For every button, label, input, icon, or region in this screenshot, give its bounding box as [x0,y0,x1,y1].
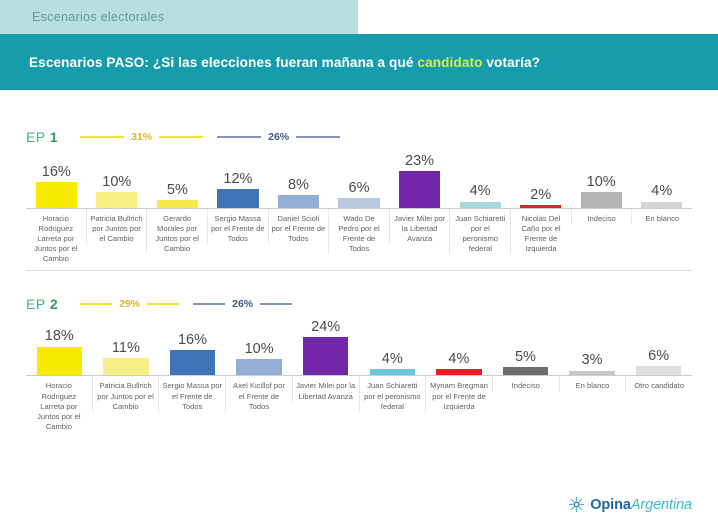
bar-category-label: Javier Milei por la Libertad Avanza [389,209,450,244]
bar-value-label: 10% [245,342,274,357]
bar-rect[interactable] [278,195,319,208]
bar-category-label: En blanco [559,376,626,391]
bar-category-label: Nicolas Del Caño por el Frente de Izquie… [510,209,571,254]
chart-ep1: EP 1 31% 26% 16%10%5%12%8%6%23%4%2%10%4%… [0,128,718,264]
page-title: Escenarios PASO: ¿Si las elecciones fuer… [29,55,540,70]
bar-category-label: Sergio Massa por el Frente de Todos [207,209,268,244]
bar-rect[interactable] [170,350,215,376]
label-row-ep1: Horacio Rodriguez Larreta por Juntos por… [26,209,692,264]
bar-rect[interactable] [96,192,137,208]
ep1-prefix: EP [26,129,50,145]
bar-rect[interactable] [399,171,440,208]
bar-rect[interactable] [460,202,501,208]
bar-category-label: Horacio Rodriguez Larreta por Juntos por… [26,376,92,431]
bar-value-label: 6% [349,181,370,196]
legend-value-jxc: 29% [119,298,140,310]
bar-row-ep2: 18%11%16%10%24%4%4%5%3%6% [26,313,692,376]
bar-rect[interactable] [103,358,148,376]
bar-item[interactable]: 10% [87,146,148,208]
bar-value-label: 3% [582,353,603,368]
bar-value-label: 11% [112,341,140,356]
bar-row-ep1: 16%10%5%12%8%6%23%4%2%10%4% [26,146,692,209]
bar-value-label: 6% [648,349,669,364]
legend-item-juntos-por-el-cambio: 31% [80,131,203,143]
title-highlight: candidato [417,55,482,70]
section-divider [26,270,692,271]
legend-line-left-icon [80,136,124,138]
bar-value-label: 4% [470,184,491,199]
bar-item[interactable]: 10% [571,146,632,208]
bar-item[interactable]: 16% [159,313,226,375]
bar-item[interactable]: 2% [510,146,571,208]
bar-category-label: Patricia Bullrich por Juntos por el Camb… [92,376,159,411]
ep2-label: EP 2 [26,296,58,312]
bar-item[interactable]: 6% [625,313,692,375]
bar-rect[interactable] [569,371,614,376]
bar-category-label: Juan Schiaretti por el peronismo federal [449,209,510,254]
ep1-label: EP 1 [26,129,58,145]
bar-category-label: Javier Milei por la Libertad Avanza [292,376,359,401]
ep1-number: 1 [50,129,58,145]
legend-ep1: EP 1 31% 26% [0,128,718,146]
bar-item[interactable]: 4% [450,146,511,208]
bar-item[interactable]: 4% [631,146,692,208]
legend-line-right-icon [260,303,292,305]
bar-category-label: Patricia Bullrich por Juntos por el Camb… [86,209,147,244]
title-middle: ¿Si las elecciones fueran mañana a qué [149,55,417,70]
bar-value-label: 10% [587,175,616,190]
ep2-number: 2 [50,296,58,312]
bar-value-label: 8% [288,178,309,193]
tab-label: Escenarios electorales [32,10,164,24]
legend-ep2: EP 2 29% 26% [0,295,718,313]
bar-value-label: 16% [42,165,71,180]
legend-value-fdt: 26% [268,131,289,143]
bar-value-label: 12% [223,172,252,187]
bar-category-label: Daniel Scioli por el Frente de Todos [268,209,329,244]
bar-value-label: 24% [311,320,340,335]
bar-rect[interactable] [157,200,198,208]
bar-rect[interactable] [236,359,281,375]
bar-item[interactable]: 16% [26,146,87,208]
legend-line-right-icon [159,136,203,138]
bar-category-label: Indeciso [571,209,632,224]
bar-value-label: 4% [382,352,403,367]
bar-value-label: 5% [167,183,188,198]
bar-item[interactable]: 4% [426,313,493,375]
bar-value-label: 18% [45,329,74,344]
bar-rect[interactable] [36,182,77,208]
plot-area-ep2: 18%11%16%10%24%4%4%5%3%6% Horacio Rodrig… [26,313,692,431]
bar-item[interactable]: 6% [329,146,390,208]
bar-category-label: Juan Schiaretti por el peronismo federal [359,376,426,411]
bar-item[interactable]: 3% [559,313,626,375]
bar-rect[interactable] [581,192,622,208]
bar-rect[interactable] [520,205,561,208]
bar-rect[interactable] [370,369,415,375]
legend-line-right-icon [296,136,340,138]
title-suffix: votaría? [483,55,541,70]
bar-category-label: Indeciso [492,376,559,391]
bar-rect[interactable] [503,367,548,375]
bar-item[interactable]: 10% [226,313,293,375]
bar-item[interactable]: 24% [292,313,359,375]
title-bar: Escenarios PASO: ¿Si las elecciones fuer… [0,34,718,90]
ep2-prefix: EP [26,296,50,312]
legend-item-frente-de-todos: 26% [217,131,340,143]
bar-value-label: 23% [405,154,434,169]
bar-value-label: 10% [102,175,131,190]
legend-value-jxc: 31% [131,131,152,143]
bar-value-label: 4% [448,352,469,367]
bar-category-label: Wado De Pedro por el Frente de Todos [328,209,389,254]
bar-item[interactable]: 8% [268,146,329,208]
logo-opina: Opina [590,497,631,513]
tab-escenarios-electorales[interactable]: Escenarios electorales [0,0,358,34]
bar-item[interactable]: 4% [359,313,426,375]
bar-value-label: 5% [515,350,536,365]
legend-line-left-icon [80,303,112,305]
bar-value-label: 2% [530,188,551,203]
legend-item-frente-de-todos: 26% [193,298,292,310]
bar-item[interactable]: 23% [389,146,450,208]
bar-item[interactable]: 18% [26,313,93,375]
brand-logo: OpinaArgentina [568,496,692,513]
bar-category-label: En blanco [631,209,692,224]
title-prefix: Escenarios PASO: [29,55,149,70]
bar-rect[interactable] [217,189,258,208]
legend-line-left-icon [217,136,261,138]
bar-category-label: Myriam Bregman por el Frente de Izquierd… [425,376,492,411]
chart-ep2: EP 2 29% 26% 18%11%16%10%24%4%4%5%3%6% H… [0,295,718,431]
bar-value-label: 4% [651,184,672,199]
bar-value-label: 16% [178,333,207,348]
bar-category-label: Horacio Rodriguez Larreta por Juntos por… [26,209,86,264]
bar-category-label: Axel Kicillof por el Frente de Todos [225,376,292,411]
bar-item[interactable]: 5% [147,146,208,208]
bar-category-label: Sergio Massa por el Frente de Todos [158,376,225,411]
tab-strip: Escenarios electorales [0,0,718,34]
opina-sun-icon [568,496,585,513]
bar-rect[interactable] [436,369,481,375]
bar-item[interactable]: 11% [93,313,160,375]
bar-rect[interactable] [641,202,682,208]
bar-item[interactable]: 12% [208,146,269,208]
legend-item-juntos-por-el-cambio: 29% [80,298,179,310]
logo-wordmark: OpinaArgentina [590,497,692,513]
bar-rect[interactable] [303,337,348,375]
bar-category-label: Gerardo Morales por Juntos por el Cambio [146,209,207,254]
label-row-ep2: Horacio Rodriguez Larreta por Juntos por… [26,376,692,431]
bar-item[interactable]: 5% [492,313,559,375]
logo-argentina: Argentina [631,497,692,513]
legend-line-right-icon [147,303,179,305]
plot-area-ep1: 16%10%5%12%8%6%23%4%2%10%4% Horacio Rodr… [26,146,692,264]
bar-rect[interactable] [636,366,681,376]
bar-rect[interactable] [37,347,82,376]
legend-line-left-icon [193,303,225,305]
bar-category-label: Otro candidato [625,376,692,391]
bar-rect[interactable] [338,198,379,208]
legend-value-fdt: 26% [232,298,253,310]
